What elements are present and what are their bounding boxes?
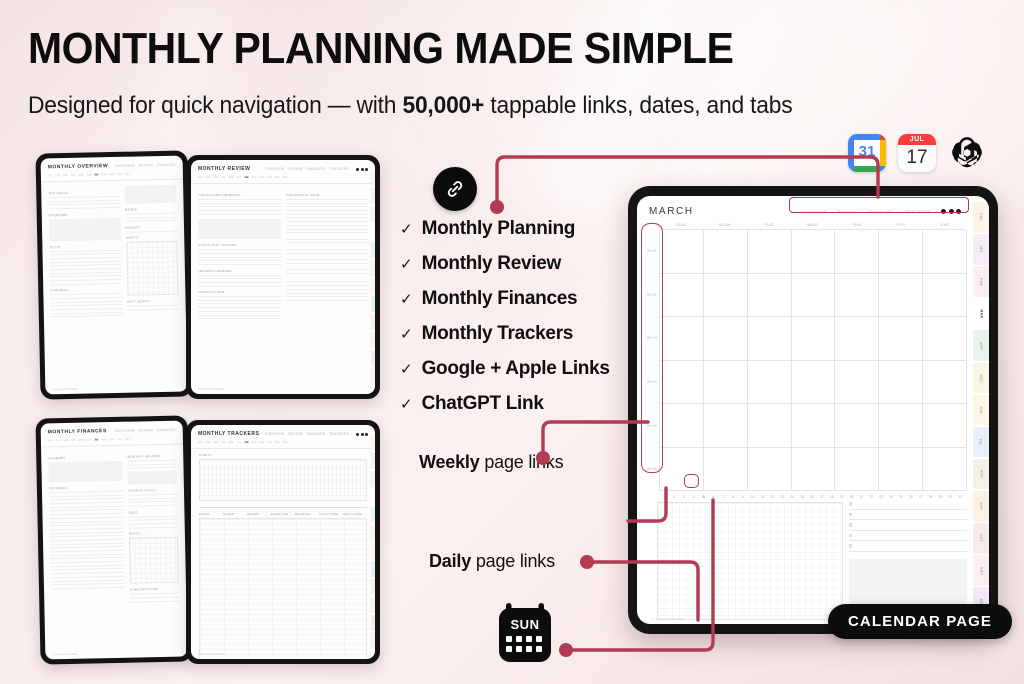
preview-month: Feb [206,440,211,444]
preview-footer: © DANKO PLANNERS · · · · [198,653,368,656]
openai-chatgpt-icon[interactable] [948,134,986,172]
day-cell[interactable] [835,274,879,318]
preview-month: Apr [71,173,75,177]
preview-month: May [78,173,83,177]
preview-section-label: EXPENSES [49,485,123,491]
month-tab-may[interactable]: MAY [973,363,989,394]
preview-tracker-col: GRATITUDE [319,512,343,516]
daily-link-14[interactable]: 14 [787,495,797,499]
preview-section-label: SUMMARY [48,455,122,461]
dow-sun: SUN [659,222,703,229]
preview-month: Jul [244,175,248,179]
main-tablet-device: MARCH OVERVIEW | REVIEW | FINANCES | TRA… [628,186,998,634]
day-cell[interactable] [748,361,792,405]
week-link-wk05[interactable]: WK05 [645,404,659,448]
preview-tablet-monthly-review[interactable]: MONTHLY REVIEW OVERVIEW REVIEW FINANCES … [186,155,380,399]
annotation-daily-bold: Daily [429,551,471,571]
day-cell[interactable] [748,274,792,318]
day-cell[interactable] [835,317,879,361]
annotation-weekly-bold: Weekly [419,452,480,472]
day-cell[interactable] [879,274,923,318]
month-tab-jun[interactable]: JUN [973,395,989,426]
week-link-wk06[interactable]: WK06 [645,447,659,491]
day-cell[interactable] [792,448,836,492]
preview-month-row: Jan Feb Mar Apr May Jun Jul Aug Sep Oct … [191,175,375,184]
daily-link-25[interactable]: 25 [896,495,906,499]
month-tab-label: MAR [979,309,983,318]
month-tab-sep[interactable]: SEP [973,491,989,522]
daily-link-5[interactable]: 5 [699,495,709,499]
daily-links-strip[interactable]: 1234567891011121314151617181920212223242… [645,491,967,502]
preview-footer: © DANKO PLANNERS · · · · [52,651,180,657]
preview-section-label: THIS MONTH I RATE ... [286,193,369,197]
preview-tab: REVIEW [288,167,302,171]
day-cell[interactable] [879,317,923,361]
preview-tab: FINANCES [307,432,326,436]
day-cell[interactable] [704,448,748,492]
preview-brand: © DANKO PLANNERS [52,388,78,392]
todo-row[interactable] [849,534,967,542]
todo-row[interactable] [849,502,967,510]
preview-section-label: SAVINGS GOALS [128,488,177,493]
subhead-suffix: tappable links, dates, and tabs [484,92,792,119]
svg-text:SUN: SUN [511,617,540,632]
feature-label: Monthly Trackers [422,323,573,345]
preview-tab-row: OVERVIEW REVIEW FINANCES [115,428,176,433]
preview-month: Mar [63,438,68,442]
preview-brand: © DANKO PLANNERS [52,653,78,657]
daily-link-20[interactable]: 20 [847,495,857,499]
daily-link-10[interactable]: 10 [748,495,758,499]
brand-footer: © DANKO PLANNERS [651,617,684,621]
preview-footer: © DANKO PLANNERS · · · · [52,386,180,392]
preview-section-label: NOTES [125,207,177,212]
daily-link-22[interactable]: 22 [866,495,876,499]
todo-row[interactable] [849,523,967,531]
feature-item: ✓ Monthly Planning [400,218,630,253]
day-cell[interactable] [792,317,836,361]
week-link-wk04[interactable]: WK04 [645,360,659,404]
preview-month: Jan [198,440,203,444]
feature-label: Monthly Planning [422,218,576,240]
tab-finances[interactable]: FINANCES [868,209,893,214]
preview-title: MONTHLY FINANCES [48,428,107,435]
preview-month: Jan [48,438,53,442]
feature-label: Monthly Finances [422,288,578,310]
tab-separator: | [862,209,863,214]
preview-tablet-monthly-finances[interactable]: MONTHLY FINANCES OVERVIEW REVIEW FINANCE… [35,415,192,664]
day-cell[interactable] [792,361,836,405]
month-tab-jan[interactable]: JAN [973,234,989,265]
preview-tab: FINANCES [157,428,176,432]
day-cell[interactable] [704,361,748,405]
google-calendar-day: 31 [854,141,880,166]
day-cell[interactable] [923,230,967,274]
month-tab-label: AUG [979,470,983,479]
day-cell[interactable] [923,317,967,361]
preview-section-label: HABITS [199,453,367,457]
apple-calendar-icon[interactable]: JUL 17 [898,134,936,172]
tab-overview[interactable]: OVERVIEW [801,209,827,214]
preview-tab: REVIEW [139,163,153,167]
month-tab-apr[interactable]: APR [973,330,989,361]
day-cell[interactable] [835,404,879,448]
preview-month: Jun [237,440,242,444]
daily-link-1[interactable]: 1 [659,495,669,499]
preview-pager: · · · · [175,386,180,389]
preview-section-label: MONTHLY BALANCE [127,454,176,459]
calendar-header: MARCH OVERVIEW | REVIEW | FINANCES | TRA… [645,204,967,222]
preview-tab-row: OVERVIEW REVIEW FINANCES [115,163,176,168]
preview-tab: REVIEW [139,428,153,432]
month-tab-oct[interactable]: OCT [973,523,989,554]
preview-pager: · · · · [363,388,368,391]
preview-section-label: THANKFUL FOR ... [198,290,281,294]
preview-month: Nov [275,175,280,179]
day-cell[interactable] [660,317,704,361]
preview-brand: © DANKO PLANNERS [198,388,224,391]
preview-month: Jul [94,172,98,176]
notes-grid-area[interactable] [657,502,843,620]
month-tab-label: JUN [979,406,983,414]
day-cell[interactable] [879,361,923,405]
day-cell[interactable] [660,361,704,405]
preview-tab: OVERVIEW [265,432,285,436]
todo-row[interactable] [849,544,967,552]
month-tab-nov[interactable]: NOV [973,555,989,586]
preview-tab: OVERVIEW [265,167,285,171]
calendar-grid-wrapper: WK01 WK02 WK03 WK04 WK05 WK06 [645,229,967,491]
chain-link-icon [433,167,477,211]
daily-link-27[interactable]: 27 [916,495,926,499]
month-tab-label: MAY [979,374,983,382]
preview-month: Oct [117,172,121,176]
preview-tab-row: OVERVIEW REVIEW FINANCES TRACKERS [265,432,368,436]
month-tab-label: OCT [979,534,983,542]
preview-brand: © DANKO PLANNERS [198,653,224,656]
calendar-page-badge: CALENDAR PAGE [828,604,1012,639]
feature-label: Monthly Review [422,253,561,275]
preview-pager: · · · · [363,653,368,656]
daily-link-23[interactable]: 23 [876,495,886,499]
preview-month: Dec [283,440,288,444]
preview-month-rail [371,435,375,649]
preview-month: May [229,440,234,444]
preview-tracker-col: EXERCISE [271,512,295,516]
preview-tracker-col: WATER [247,512,271,516]
day-cell[interactable] [923,274,967,318]
preview-month: Apr [221,175,225,179]
check-icon: ✓ [400,395,413,413]
week-link-wk01[interactable]: WK01 [645,229,659,273]
month-tab-aug[interactable]: AUG [973,459,989,490]
calendar-month-title: MARCH [649,206,694,217]
preview-month: Nov [125,437,130,441]
check-icon: ✓ [400,290,413,308]
week-link-wk03[interactable]: WK03 [645,316,659,360]
month-tab-mar[interactable]: MAR [973,298,989,329]
day-cell[interactable] [704,404,748,448]
daily-link-24[interactable]: 24 [886,495,896,499]
preview-pager: · · · · [175,651,180,654]
preview-section-label: GOALS THAT I MISSED [198,243,281,247]
preview-tab-row: OVERVIEW REVIEW FINANCES TRACKERS [265,167,368,171]
day-cell[interactable] [835,361,879,405]
feature-item: ✓ Monthly Finances [400,288,630,323]
dow-wed: WED [791,222,835,229]
daily-link-9[interactable]: 9 [738,495,748,499]
tab-trackers[interactable]: TRACKERS [904,209,931,214]
preview-month: Sep [259,440,264,444]
preview-month: Apr [71,438,75,442]
preview-tablet-monthly-trackers[interactable]: MONTHLY TRACKERS OVERVIEW REVIEW FINANCE… [186,420,380,664]
app-icon-row: 31 JUL 17 [848,134,986,172]
preview-tab: REVIEW [288,432,302,436]
preview-tab: TRACKERS [329,167,349,171]
week-link-wk02[interactable]: WK02 [645,273,659,317]
preview-month: Mar [63,173,68,177]
day-of-week-header: SUN MON TUE WED THU FRI SAT [645,222,967,229]
preview-month: Sep [109,437,114,441]
daily-link-30[interactable]: 30 [945,495,955,499]
dow-fri: FRI [879,222,923,229]
daily-link-11[interactable]: 11 [758,495,768,499]
daily-link-19[interactable]: 19 [837,495,847,499]
preview-section-label: TO DO [49,243,121,248]
preview-month-row: Jan Feb Mar Apr May Jun Jul Aug Sep Oct … [191,440,375,449]
month-tab-label: SEP [979,502,983,510]
dow-mon: MON [703,222,747,229]
daily-link-13[interactable]: 13 [778,495,788,499]
preview-month: Oct [267,440,271,444]
check-icon: ✓ [400,255,413,273]
month-tab-label: NOV [979,566,983,575]
day-cell[interactable] [660,274,704,318]
feature-item: ✓ Monthly Trackers [400,323,630,358]
apple-calendar-day: 17 [898,144,936,172]
preview-month: Aug [251,440,256,444]
preview-section-label: NOTES [129,531,178,536]
preview-month: Oct [117,437,121,441]
preview-section-label: BUDGET [125,225,177,230]
preview-month: Sep [109,172,114,176]
preview-tab: OVERVIEW [115,429,135,433]
preview-month-rail [371,170,375,384]
calendar-view-dots[interactable] [941,209,961,214]
page-subheadline: Designed for quick navigation — with 50,… [28,92,959,120]
dow-sat: SAT [923,222,967,229]
calendar-lower-section [645,502,967,620]
subhead-prefix: Designed for quick navigation — with [28,92,402,119]
month-tab-label: JUL [979,438,983,445]
preview-month: Feb [206,175,211,179]
preview-month: Jan [48,173,53,177]
page-headline: MONTHLY PLANNING MADE SIMPLE [28,26,921,72]
daily-link-31[interactable]: 31 [955,495,965,499]
month-tab-jul[interactable]: JUL [973,427,989,458]
month-tab-rail[interactable]: CALJANFEBMARAPRMAYJUNJULAUGSEPOCTNOVDEC [973,196,989,624]
daily-link-21[interactable]: 21 [857,495,867,499]
preview-section-label: PERSONAL [50,287,122,292]
day-cell[interactable] [923,361,967,405]
annotation-weekly-rest: page links [480,452,564,472]
preview-month: Mar [213,175,218,179]
preview-month: Sep [259,175,264,179]
sun-calendar-icon: SUN [492,599,558,665]
preview-tab: FINANCES [307,167,326,171]
daily-link-2[interactable]: 2 [669,495,679,499]
preview-section-label: DEBT [128,509,177,514]
preview-month: Jul [94,437,98,441]
preview-tablet-monthly-overview[interactable]: MONTHLY OVERVIEW OVERVIEW REVIEW FINANCE… [35,150,192,399]
preview-section-label: NEXT MONTH [127,299,179,304]
preview-section-label: TOP GOALS [48,190,120,195]
feature-list: ✓ Monthly Planning ✓ Monthly Review ✓ Mo… [400,218,630,428]
day-cell[interactable] [879,404,923,448]
preview-section-label: OVERVIEW [49,211,121,216]
preview-month: Dec [283,175,288,179]
feature-item: ✓ ChatGPT Link [400,393,630,428]
preview-tracker-col: SELF CARE [343,512,367,516]
preview-section-label: LESSONS LEARNED [198,269,281,273]
preview-month: Oct [267,175,271,179]
preview-tab: FINANCES [157,163,176,167]
month-tab-label: FEB [979,278,983,286]
daily-link-26[interactable]: 26 [906,495,916,499]
daily-link-3[interactable]: 3 [679,495,689,499]
day-cell[interactable] [704,317,748,361]
month-tab-label: APR [979,342,983,350]
tab-separator: | [898,209,899,214]
day-cell[interactable] [660,230,704,274]
daily-link-6[interactable]: 6 [708,495,718,499]
preview-section-label: HABITS [126,235,178,240]
preview-footer: © DANKO PLANNERS · · · · [198,388,368,391]
preview-month: Aug [251,175,256,179]
day-cell[interactable] [704,274,748,318]
preview-month: Feb [55,438,60,442]
feature-label: ChatGPT Link [422,393,544,415]
todo-list-area [849,502,967,620]
preview-tab: TRACKERS [329,432,349,436]
day-cell[interactable] [835,230,879,274]
day-cell[interactable] [879,230,923,274]
daily-link-4[interactable]: 4 [689,495,699,499]
preview-section-label: SUBSCRIPTIONS [130,587,179,592]
preview-month: Aug [101,437,106,441]
preview-title: MONTHLY TRACKERS [198,431,259,437]
day-cell[interactable] [792,404,836,448]
tab-review[interactable]: REVIEW [838,209,857,214]
month-tab-label: JAN [979,246,983,254]
dow-tue: TUE [747,222,791,229]
day-cell[interactable] [748,230,792,274]
preview-month: Jun [237,175,242,179]
day-cell[interactable] [660,404,704,448]
preview-tab: OVERVIEW [115,164,135,168]
day-cell[interactable] [879,448,923,492]
month-tab-label: CAL [979,213,983,221]
annotation-daily-rest: page links [471,551,555,571]
preview-tracker-col: MOOD [199,512,223,516]
daily-link-8[interactable]: 8 [728,495,738,499]
preview-month: Feb [55,173,60,177]
daily-link-29[interactable]: 29 [936,495,946,499]
dow-thu: THU [835,222,879,229]
check-icon: ✓ [400,360,413,378]
preview-month: Jul [244,440,248,444]
month-tab-feb[interactable]: FEB [973,266,989,297]
calendar-tab-row[interactable]: OVERVIEW | REVIEW | FINANCES | TRACKERS [797,207,965,216]
check-icon: ✓ [400,220,413,238]
daily-link-16[interactable]: 16 [807,495,817,499]
daily-link-12[interactable]: 12 [768,495,778,499]
preview-month: May [78,438,83,442]
preview-month: Apr [221,440,225,444]
day-cell[interactable] [792,274,836,318]
google-calendar-icon[interactable]: 31 [848,134,886,172]
daily-link-28[interactable]: 28 [926,495,936,499]
preview-title: MONTHLY REVIEW [198,166,250,172]
day-cell[interactable] [704,230,748,274]
preview-month: Jan [198,175,203,179]
feature-item: ✓ Monthly Review [400,253,630,288]
feature-item: ✓ Google + Apple Links [400,358,630,393]
daily-link-17[interactable]: 17 [817,495,827,499]
day-cell[interactable] [748,317,792,361]
day-cell[interactable] [923,448,967,492]
annotation-daily-page-links: Daily page links [429,551,555,572]
annotation-weekly-page-links: Weekly page links [419,452,563,473]
todo-row[interactable] [849,513,967,521]
preview-month: Jun [87,437,92,441]
day-cell[interactable] [923,404,967,448]
daily-link-15[interactable]: 15 [797,495,807,499]
calendar-day-grid[interactable] [659,229,967,491]
calendar-page-screen: MARCH OVERVIEW | REVIEW | FINANCES | TRA… [637,196,989,624]
tab-separator: | [832,209,833,214]
day-cell[interactable] [660,448,704,492]
day-cell[interactable] [748,404,792,448]
check-icon: ✓ [400,325,413,343]
preview-tracker-col: READING [295,512,319,516]
preview-tracker-col: SLEEP [223,512,247,516]
daily-link-18[interactable]: 18 [827,495,837,499]
week-links-column[interactable]: WK01 WK02 WK03 WK04 WK05 WK06 [645,229,659,491]
daily-link-7[interactable]: 7 [718,495,728,499]
day-cell[interactable] [792,230,836,274]
preview-month: Nov [275,440,280,444]
month-tab-cal[interactable]: CAL [973,202,989,233]
feature-label: Google + Apple Links [422,358,610,380]
day-cell[interactable] [835,448,879,492]
subhead-highlight: 50,000+ [402,92,484,119]
preview-section-label: TOP ACCOMPLISHMENTS [198,193,281,197]
preview-month: May [229,175,234,179]
day-cell[interactable] [748,448,792,492]
preview-month: Jun [87,172,92,176]
preview-title: MONTHLY OVERVIEW [48,163,109,170]
preview-month: Aug [101,172,106,176]
preview-month: Nov [125,172,130,176]
preview-month: Mar [213,440,218,444]
